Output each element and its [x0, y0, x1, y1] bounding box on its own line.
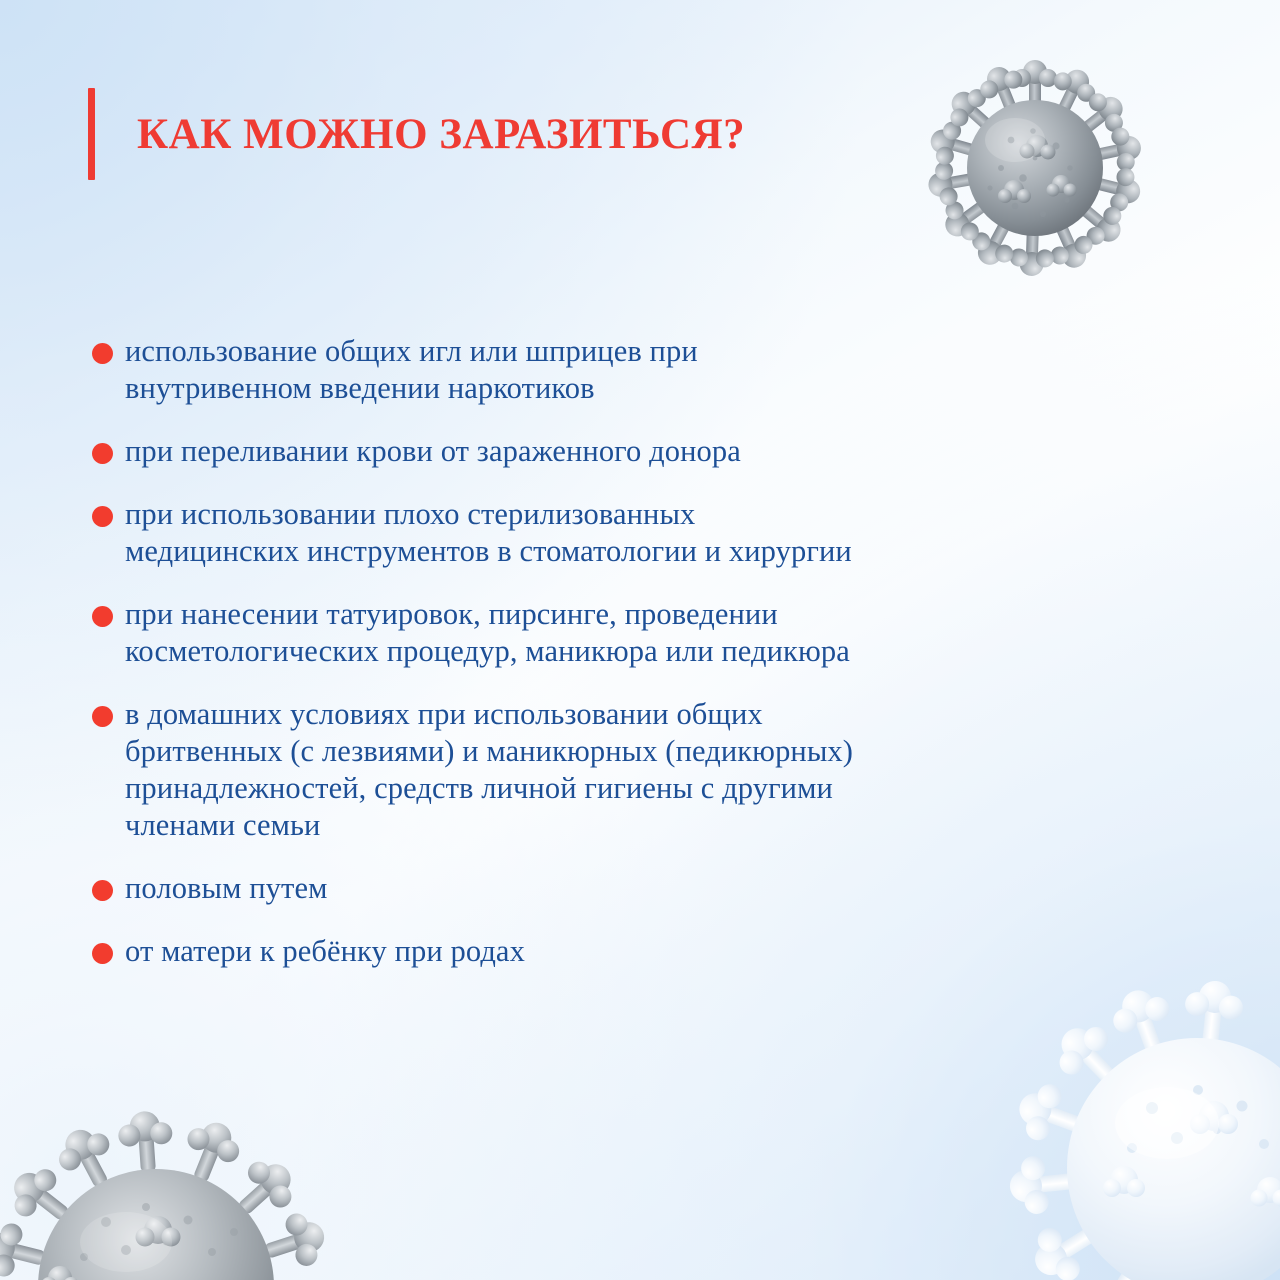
list-item: в домашних условиях при использовании об… — [92, 696, 1192, 844]
list-item: половым путем — [92, 870, 1192, 907]
list-item: использование общих игл или шприцев при … — [92, 333, 1192, 407]
coronavirus-bottom-right-icon — [1002, 958, 1280, 1280]
list-item-label: половым путем — [125, 870, 328, 907]
list-item: при использовании плохо стерилизованных … — [92, 496, 1192, 570]
bullet-dot-icon — [92, 706, 113, 727]
bullet-dot-icon — [92, 343, 113, 364]
list-item: при нанесении татуировок, пирсинге, пров… — [92, 596, 1192, 670]
coronavirus-top-right-icon — [915, 28, 1155, 288]
bullet-dot-icon — [92, 943, 113, 964]
bullet-dot-icon — [92, 606, 113, 627]
accent-bar — [88, 88, 95, 180]
bullet-dot-icon — [92, 506, 113, 527]
list-item: при переливании крови от зараженного дон… — [92, 433, 1192, 470]
coronavirus-bottom-left-icon — [0, 1082, 346, 1280]
list-item-label: в домашних условиях при использовании об… — [125, 696, 853, 844]
list-item-label: использование общих игл или шприцев при … — [125, 333, 698, 407]
list-item-label: от матери к ребёнку при родах — [125, 933, 525, 970]
list-item-label: при использовании плохо стерилизованных … — [125, 496, 852, 570]
header: КАК МОЖНО ЗАРАЗИТЬСЯ? — [88, 88, 745, 180]
list-item-label: при переливании крови от зараженного дон… — [125, 433, 741, 470]
page-title: КАК МОЖНО ЗАРАЗИТЬСЯ? — [137, 113, 745, 156]
bullet-dot-icon — [92, 443, 113, 464]
list-item: от матери к ребёнку при родах — [92, 933, 1192, 970]
list-item-label: при нанесении татуировок, пирсинге, пров… — [125, 596, 850, 670]
poster-canvas: КАК МОЖНО ЗАРАЗИТЬСЯ? использование общи… — [0, 0, 1280, 1280]
bullet-dot-icon — [92, 880, 113, 901]
transmission-routes-list: использование общих игл или шприцев при … — [92, 333, 1192, 996]
